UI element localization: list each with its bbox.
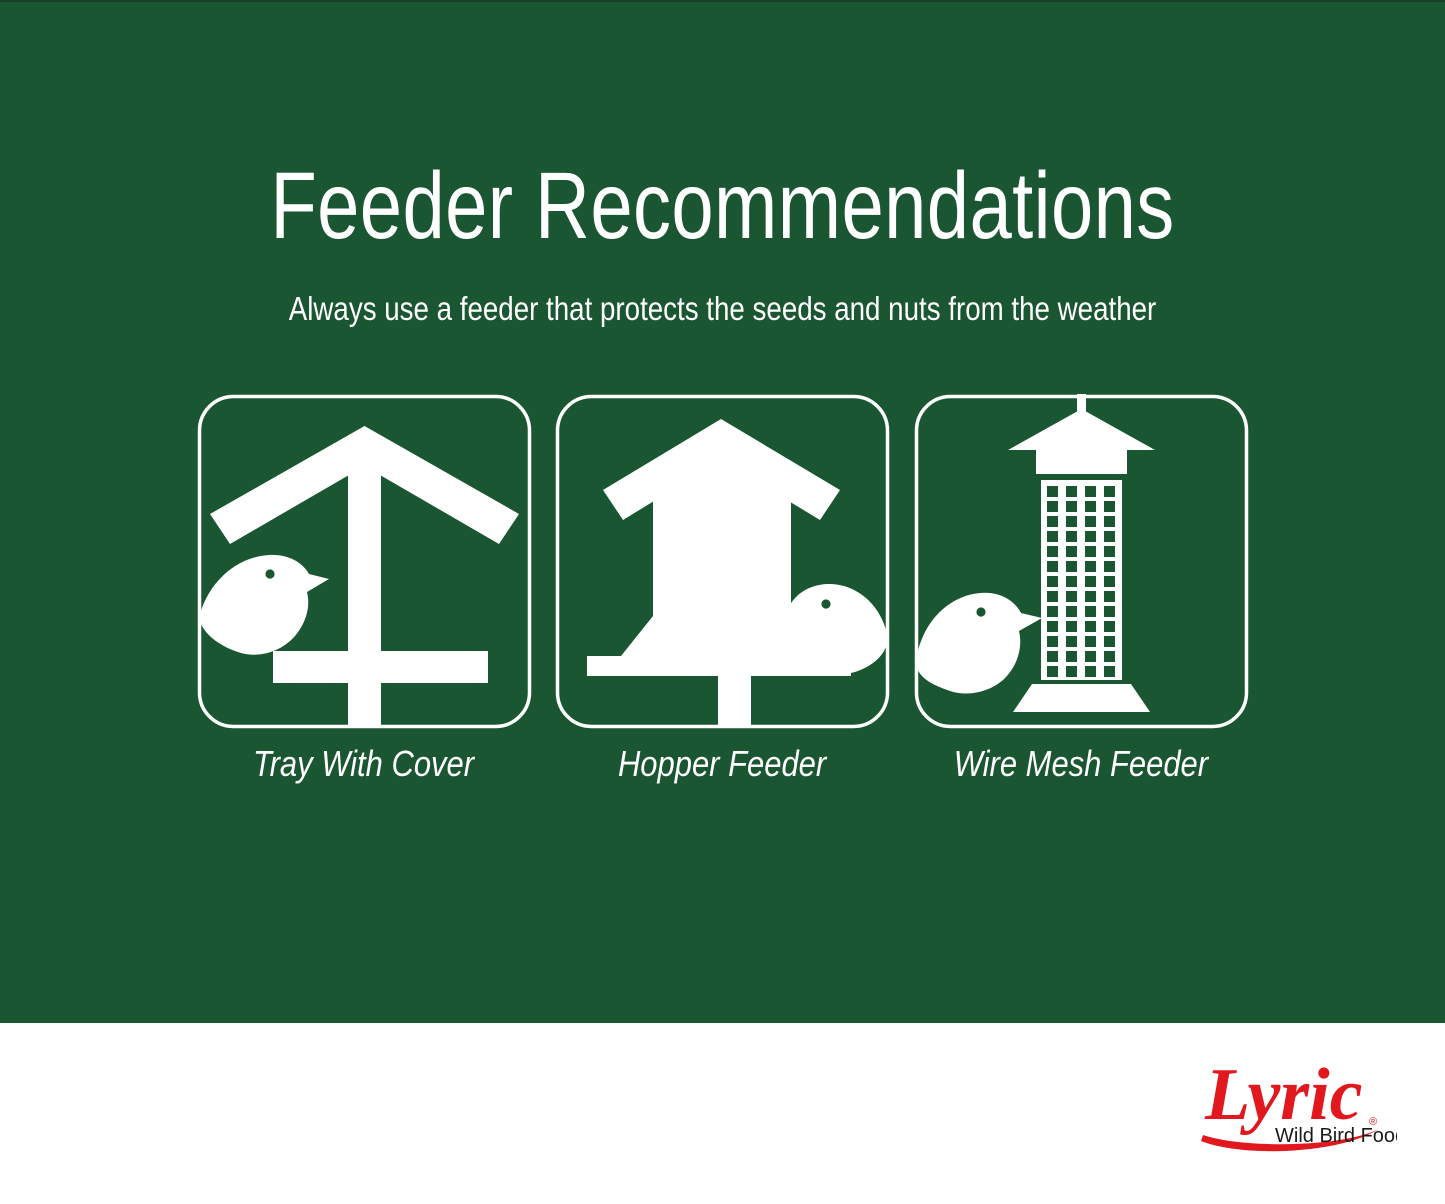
footer-bar: Lyric ® Wild Bird Food <box>0 1023 1445 1204</box>
feeder-card-wire-mesh-feeder[interactable]: Wire Mesh Feeder <box>907 394 1255 785</box>
feeder-label-tray-with-cover: Tray With Cover <box>253 743 474 785</box>
logo-tagline: Wild Bird Food <box>1275 1125 1397 1147</box>
bird-eye <box>976 607 985 616</box>
hero-panel: Feeder Recommendations Always use a feed… <box>0 0 1445 1023</box>
feeder-card-tray-with-cover[interactable]: Tray With Cover <box>190 394 538 785</box>
feeder-label-wire-mesh-feeder: Wire Mesh Feeder <box>954 743 1208 785</box>
feeder-card-hopper-feeder[interactable]: Hopper Feeder <box>549 394 897 785</box>
page-title: Feeder Recommendations <box>145 154 1301 258</box>
base-tray <box>1013 684 1150 712</box>
logo-wordmark: Lyric <box>1204 1054 1363 1136</box>
lyric-logo[interactable]: Lyric ® Wild Bird Food <box>1197 1045 1397 1165</box>
hopper-feeder-icon <box>555 394 890 729</box>
feeder-icon-row: Tray With Cover <box>190 394 1255 794</box>
bird-facing-right <box>199 555 329 655</box>
flat-tray <box>273 651 488 683</box>
post-lower <box>348 683 381 727</box>
page-subtitle: Always use a feeder that protects the se… <box>116 290 1330 328</box>
center-post <box>718 676 751 727</box>
bird-eye <box>265 569 274 578</box>
bird-eye <box>821 599 830 608</box>
feeder-label-hopper-feeder: Hopper Feeder <box>618 743 826 785</box>
cone-cap <box>1008 409 1155 474</box>
wire-mesh-feeder-icon <box>914 394 1249 729</box>
bird-facing-right <box>916 593 1042 694</box>
tray-with-cover-icon <box>197 394 532 729</box>
center-post <box>348 466 381 651</box>
